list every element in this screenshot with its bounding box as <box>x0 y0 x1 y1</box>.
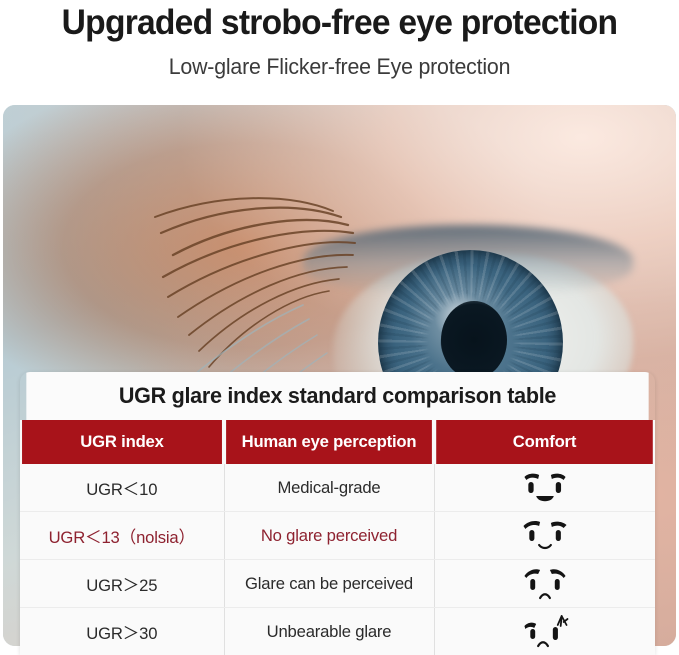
cell-comfort <box>436 512 653 560</box>
distressed-face-icon <box>438 613 652 651</box>
cell-perception: No glare perceived <box>226 512 432 560</box>
table-title: UGR glare index standard comparison tabl… <box>26 372 648 420</box>
cell-perception: Glare can be perceived <box>226 560 432 608</box>
cell-perception: Unbearable glare <box>226 608 432 655</box>
content-face-icon <box>438 519 652 553</box>
column-header-human-eye-perception: Human eye perception <box>226 420 432 464</box>
column-header-comfort: Comfort <box>436 420 653 464</box>
cell-ugr-index: UGR＜13（nolsia） <box>22 512 222 560</box>
table-row: UGR＜13（nolsia） No glare perceived <box>20 512 655 560</box>
table-row: UGR＜10 Medical-grade <box>20 464 655 512</box>
page-subtitle: Low-glare Flicker-free Eye protection <box>10 52 669 82</box>
ugr-comparison-table: UGR glare index standard comparison tabl… <box>20 372 655 655</box>
cell-comfort <box>436 464 653 512</box>
page-title: Upgraded strobo-free eye protection <box>14 2 666 44</box>
table-row: UGR＞30 Unbearable glare <box>20 608 655 655</box>
table-row: UGR＞25 Glare can be perceived <box>20 560 655 608</box>
cell-comfort <box>436 560 653 608</box>
column-header-ugr-index: UGR index <box>22 420 222 464</box>
cell-comfort <box>436 608 653 655</box>
cell-ugr-index: UGR＞25 <box>22 560 222 608</box>
happy-face-icon <box>438 471 652 505</box>
header-block: Upgraded strobo-free eye protection Low-… <box>0 0 679 82</box>
table-header-row: UGR index Human eye perception Comfort <box>20 420 655 464</box>
cell-ugr-index: UGR＜10 <box>22 464 222 512</box>
worried-face-icon <box>438 567 652 601</box>
cell-ugr-index: UGR＞30 <box>22 608 222 655</box>
cell-perception: Medical-grade <box>226 464 432 512</box>
